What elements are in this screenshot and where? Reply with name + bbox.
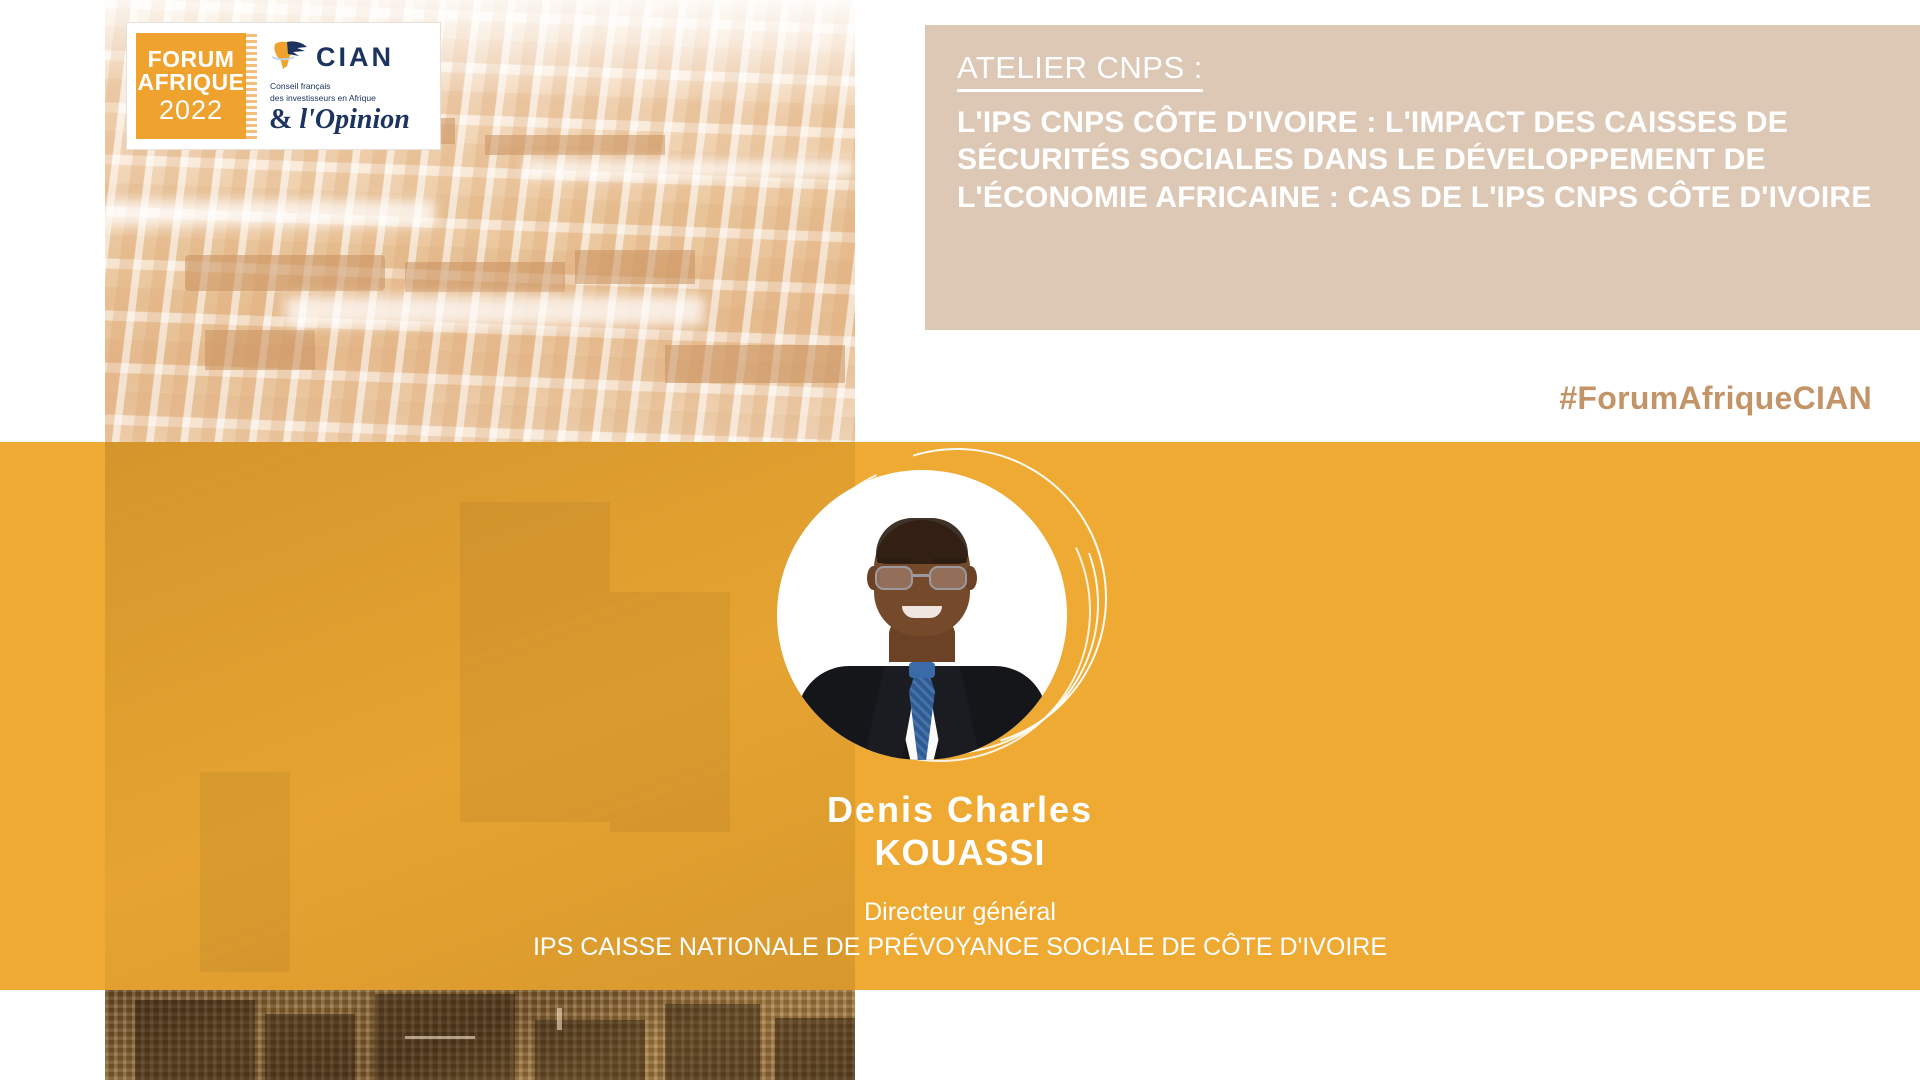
cian-wordmark: CIAN (316, 44, 394, 71)
speaker-organisation: IPS CAISSE NATIONALE DE PRÉVOYANCE SOCIA… (0, 932, 1920, 962)
logo-forum-line2: AFRIQUE (138, 71, 245, 94)
avatar (777, 470, 1067, 760)
session-kicker: ATELIER CNPS : (957, 50, 1203, 92)
logo-pattern-divider (246, 33, 257, 139)
opinion-wordmark: & l'Opinion (269, 106, 431, 134)
session-title: L'IPS CNPS CÔTE D'IVOIRE : L'IMPACT DES … (957, 104, 1890, 217)
ampersand-glyph: & (269, 104, 292, 135)
speaker-first-name: Denis Charles (0, 790, 1920, 830)
event-hashtag: #ForumAfriqueCIAN (1559, 380, 1872, 417)
forum-cian-logo: FORUM AFRIQUE 2022 CIAN Conseil français… (126, 22, 441, 150)
session-title-band: ATELIER CNPS : L'IPS CNPS CÔTE D'IVOIRE … (925, 25, 1920, 330)
speaker-info: Denis Charles KOUASSI Directeur général … (0, 790, 1920, 962)
logo-forum-line1: FORUM (148, 48, 235, 71)
logo-forum-year: 2022 (159, 97, 223, 124)
africa-bird-icon (269, 38, 309, 77)
opinion-word: l'Opinion (299, 104, 409, 135)
speaker-role: Directeur général (0, 897, 1920, 927)
cityscape-photo (105, 990, 855, 1080)
speaker-last-name: KOUASSI (0, 830, 1920, 875)
speaker-portrait (767, 456, 1097, 786)
cian-tagline-line2: des investisseurs en Afrique (270, 93, 431, 104)
cian-opinion-logo: CIAN Conseil français des investisseurs … (257, 33, 431, 139)
cian-tagline-line1: Conseil français (270, 81, 431, 92)
forum-afrique-2022-logo: FORUM AFRIQUE 2022 (136, 33, 246, 139)
